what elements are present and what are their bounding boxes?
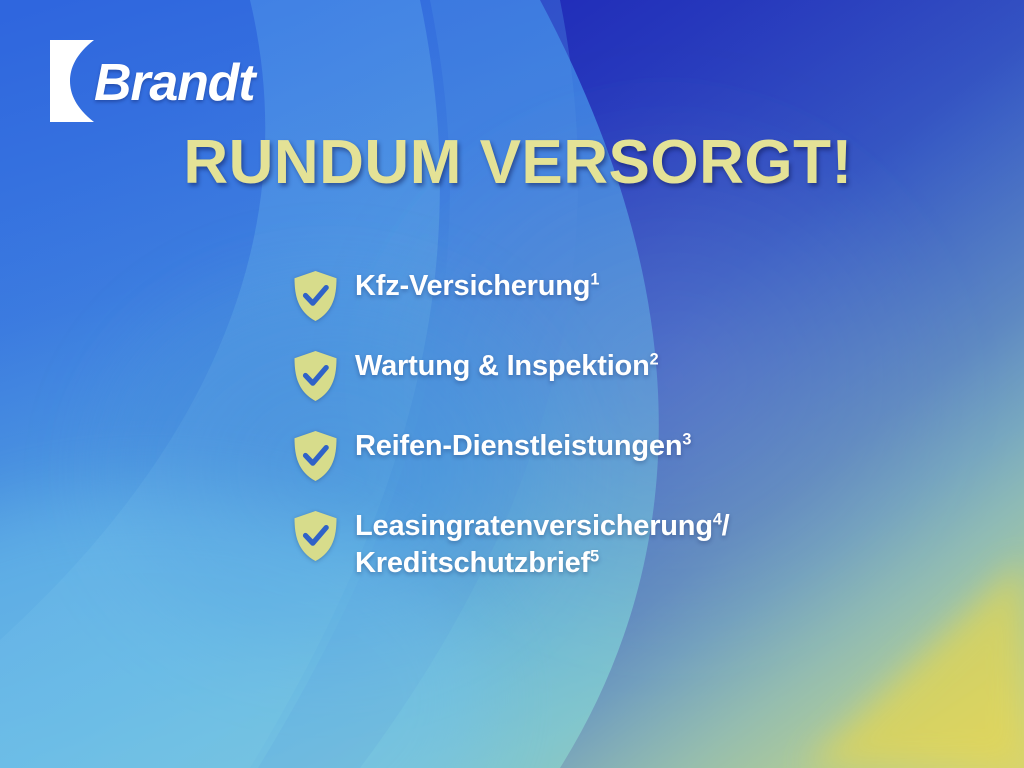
benefit-footnote: 4: [713, 510, 722, 528]
list-item: Leasingratenversicherung4/ Kreditschutzb…: [292, 508, 915, 582]
list-item: Wartung & Inspektion2: [292, 348, 915, 402]
shield-check-icon: [292, 350, 339, 402]
benefit-label-text: Reifen-Dienstleistungen: [355, 430, 682, 462]
benefit-label-text: Wartung & Inspektion: [355, 350, 650, 382]
list-item: Kfz-Versicherung1: [292, 268, 915, 322]
list-item: Reifen-Dienstleistungen3: [292, 428, 915, 482]
benefit-footnote: 2: [650, 350, 659, 368]
benefit-footnote-2: 5: [590, 547, 599, 565]
shield-check-icon: [292, 270, 339, 322]
benefit-label-text: Leasingratenversicherung: [355, 510, 713, 542]
benefit-label-text: Kfz-Versicherung: [355, 270, 590, 302]
benefit-footnote: 3: [682, 430, 691, 448]
page-title: RUNDUM VERSORGT!: [0, 132, 1024, 194]
brand-logo[interactable]: Brandt: [50, 40, 254, 122]
brand-wordmark: Brandt: [94, 57, 254, 109]
benefit-footnote: 1: [590, 270, 599, 288]
benefit-label: Wartung & Inspektion2: [355, 348, 658, 385]
benefits-list: Kfz-Versicherung1 Wartung & Inspektion2 …: [292, 268, 915, 582]
shield-check-icon: [292, 510, 339, 562]
benefit-separator: /: [722, 510, 730, 542]
benefit-label: Kfz-Versicherung1: [355, 268, 599, 305]
shield-check-icon: [292, 430, 339, 482]
benefit-label: Reifen-Dienstleistungen3: [355, 428, 691, 465]
benefit-label-text-2: Kreditschutzbrief: [355, 547, 590, 579]
promo-banner: Brandt RUNDUM VERSORGT! Kfz-Versicherung…: [0, 0, 1024, 768]
benefit-label: Leasingratenversicherung4/ Kreditschutzb…: [355, 508, 915, 582]
brandt-bracket-mark-icon: [50, 40, 96, 122]
